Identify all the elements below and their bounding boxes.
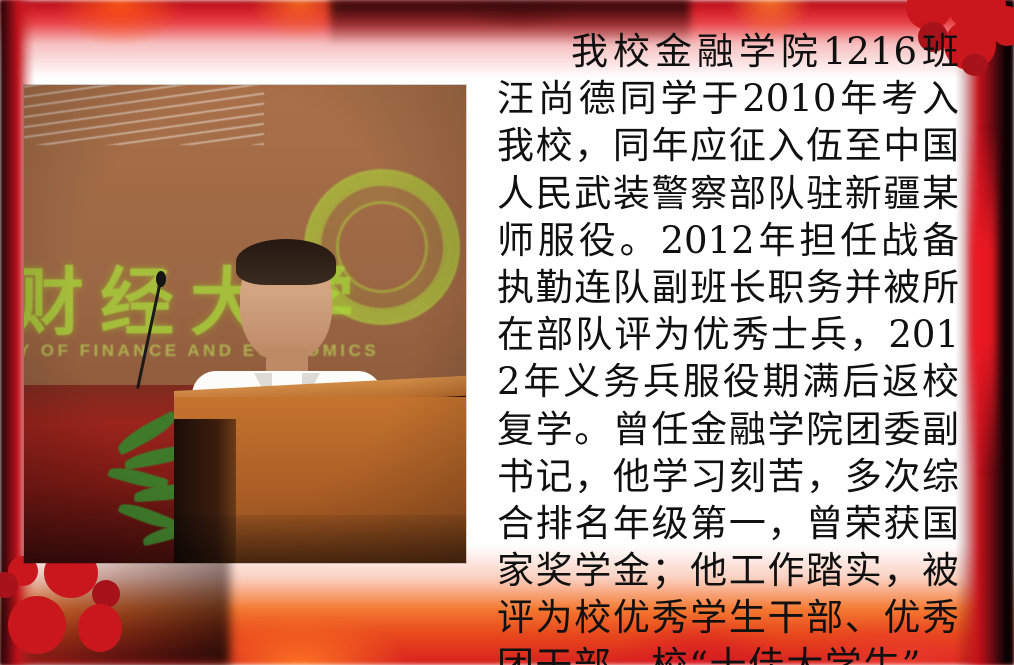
microphone-head-icon: [156, 271, 166, 287]
photo-light-streaks: [24, 85, 264, 145]
presentation-slide: 财经大学 Y OF FINANCE AND ECONOMICS: [0, 0, 1014, 665]
right-edge-red-glow: [970, 130, 996, 470]
subject-hair: [236, 239, 336, 285]
speaker-photo: 财经大学 Y OF FINANCE AND ECONOMICS: [24, 85, 466, 563]
podium-base-shadow: [174, 515, 466, 563]
biography-paragraph: 我校金融学院1216班汪尚德同学于2010年考入我校，同年应征入伍至中国人民武装…: [497, 28, 959, 665]
body-text-column: 我校金融学院1216班汪尚德同学于2010年考入我校，同年应征入伍至中国人民武装…: [497, 28, 959, 665]
